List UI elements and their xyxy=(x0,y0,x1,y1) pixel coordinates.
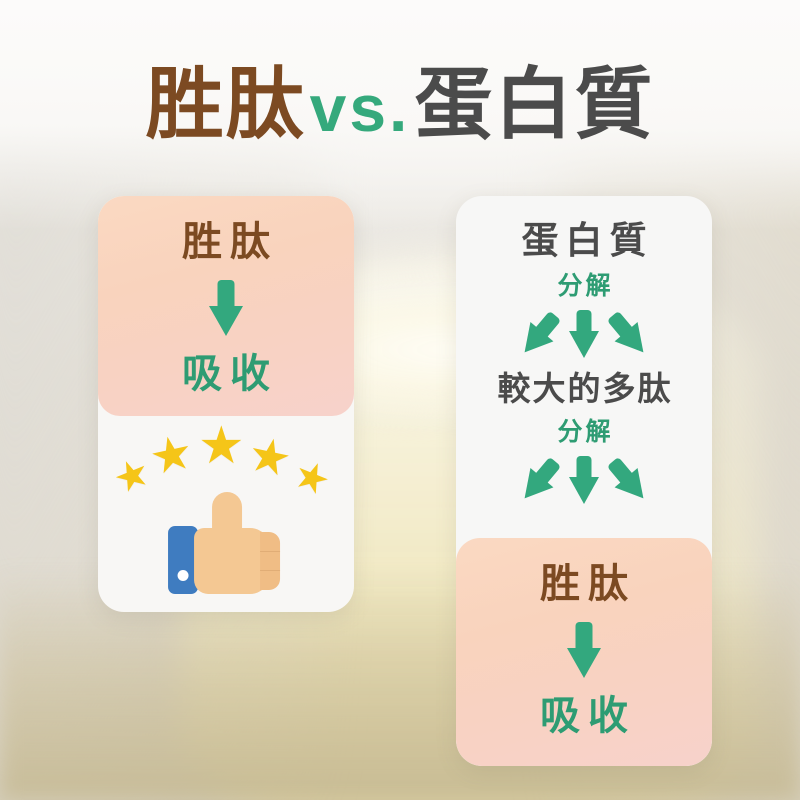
arrow-row-2 xyxy=(456,456,712,504)
star-icon: ★ xyxy=(145,428,197,484)
arrow-down-icon xyxy=(569,456,599,504)
thumb-knuckles xyxy=(260,532,280,590)
arrow-down-left-icon xyxy=(513,452,567,508)
rating-area: ★ ★ ★ ★ ★ xyxy=(98,416,354,612)
left-card-rating-panel: ★ ★ ★ ★ ★ xyxy=(98,416,354,612)
star-icon: ★ xyxy=(108,451,156,502)
left-card-peach-panel: 胜肽 吸收 xyxy=(98,196,354,416)
title-protein: 蛋白質 xyxy=(414,60,654,148)
star-icon: ★ xyxy=(243,430,295,486)
thumb-finger xyxy=(212,492,242,550)
title-peptide: 胜肽 xyxy=(146,60,306,148)
arrow-row-1 xyxy=(456,310,712,358)
page-title: 胜肽vs.蛋白質 xyxy=(0,56,800,156)
right-split-label-1: 分解 xyxy=(554,270,613,302)
title-vs: vs. xyxy=(306,71,415,145)
poster-root: 胜肽vs.蛋白質 胜肽 吸收 ★ ★ ★ ★ ★ xyxy=(0,0,800,800)
left-peptide-label: 胜肽 xyxy=(174,218,278,266)
left-absorb-label: 吸收 xyxy=(174,350,278,398)
right-card-protein: 蛋白質 分解 較大的多肽 分解 xyxy=(456,196,712,766)
right-split-label-2: 分解 xyxy=(554,416,613,448)
right-protein-label: 蛋白質 xyxy=(515,218,654,264)
arrow-down-icon xyxy=(209,280,243,336)
right-card-white-panel: 蛋白質 分解 較大的多肽 分解 xyxy=(456,196,712,540)
thumbs-up-icon xyxy=(168,492,294,602)
arrow-down-right-icon xyxy=(601,452,655,508)
arrow-down-right-icon xyxy=(601,306,655,362)
arrow-down-left-icon xyxy=(513,306,567,362)
star-icon: ★ xyxy=(288,453,336,504)
right-absorb-label: 吸收 xyxy=(532,692,636,740)
right-polypeptide-label: 較大的多肽 xyxy=(496,368,673,410)
star-icon: ★ xyxy=(198,420,245,472)
right-peptide-label: 胜肽 xyxy=(532,560,636,608)
arrow-down-icon xyxy=(569,310,599,358)
left-card-peptide: 胜肽 吸收 ★ ★ ★ ★ ★ xyxy=(98,196,354,612)
right-card-peach-panel: 胜肽 吸收 xyxy=(456,538,712,766)
arrow-down-icon xyxy=(567,622,601,678)
